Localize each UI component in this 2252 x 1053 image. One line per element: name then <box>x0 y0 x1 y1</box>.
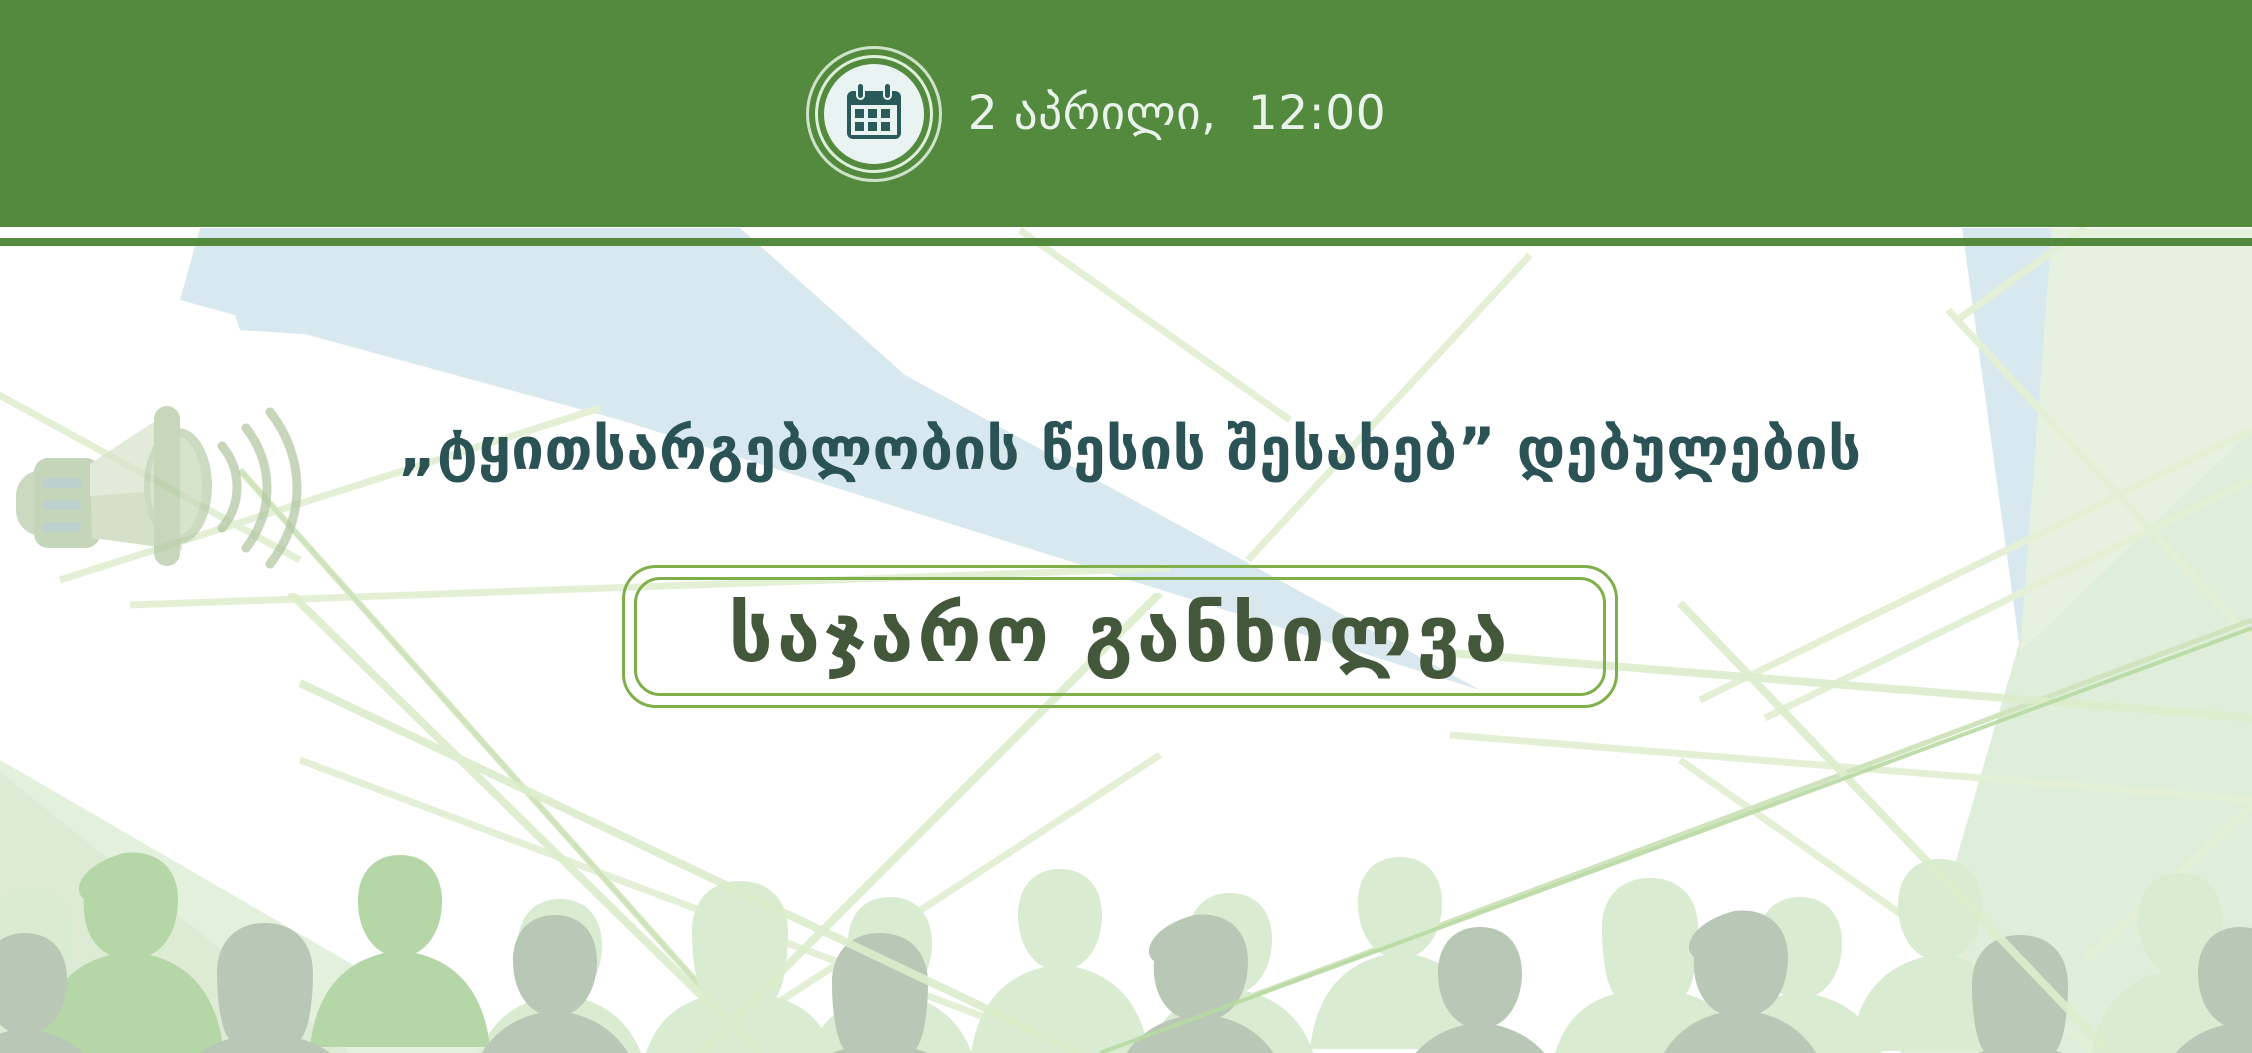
calendar-icon <box>839 79 909 149</box>
calendar-disc <box>824 64 924 164</box>
public-discussion-badge: საჯარო განხილვა <box>622 565 1618 708</box>
event-datetime: 2 აპრილი, 12:00 <box>968 90 1387 137</box>
header-content: 2 აპრილი, 12:00 <box>806 46 1387 182</box>
badge-label: საჯარო განხილვა <box>728 596 1511 674</box>
badge-border-inner: საჯარო განხილვა <box>634 577 1606 696</box>
event-announcement-banner: 2 აპრილი, 12:00 „ტყითსარგებლობის წესის შ… <box>0 0 2252 1053</box>
megaphone-bar <box>154 406 180 566</box>
megaphone-sound-waves <box>222 412 297 564</box>
calendar-badge <box>806 46 942 182</box>
megaphone-icon <box>6 378 326 593</box>
main-content: „ტყითსარგებლობის წესის შესახებ” დებულები… <box>330 250 1930 482</box>
header-divider-rule <box>0 238 2252 246</box>
page-title: „ტყითსარგებლობის წესის შესახებ” დებულები… <box>330 418 1930 482</box>
header-bar: 2 აპრილი, 12:00 <box>0 0 2252 227</box>
